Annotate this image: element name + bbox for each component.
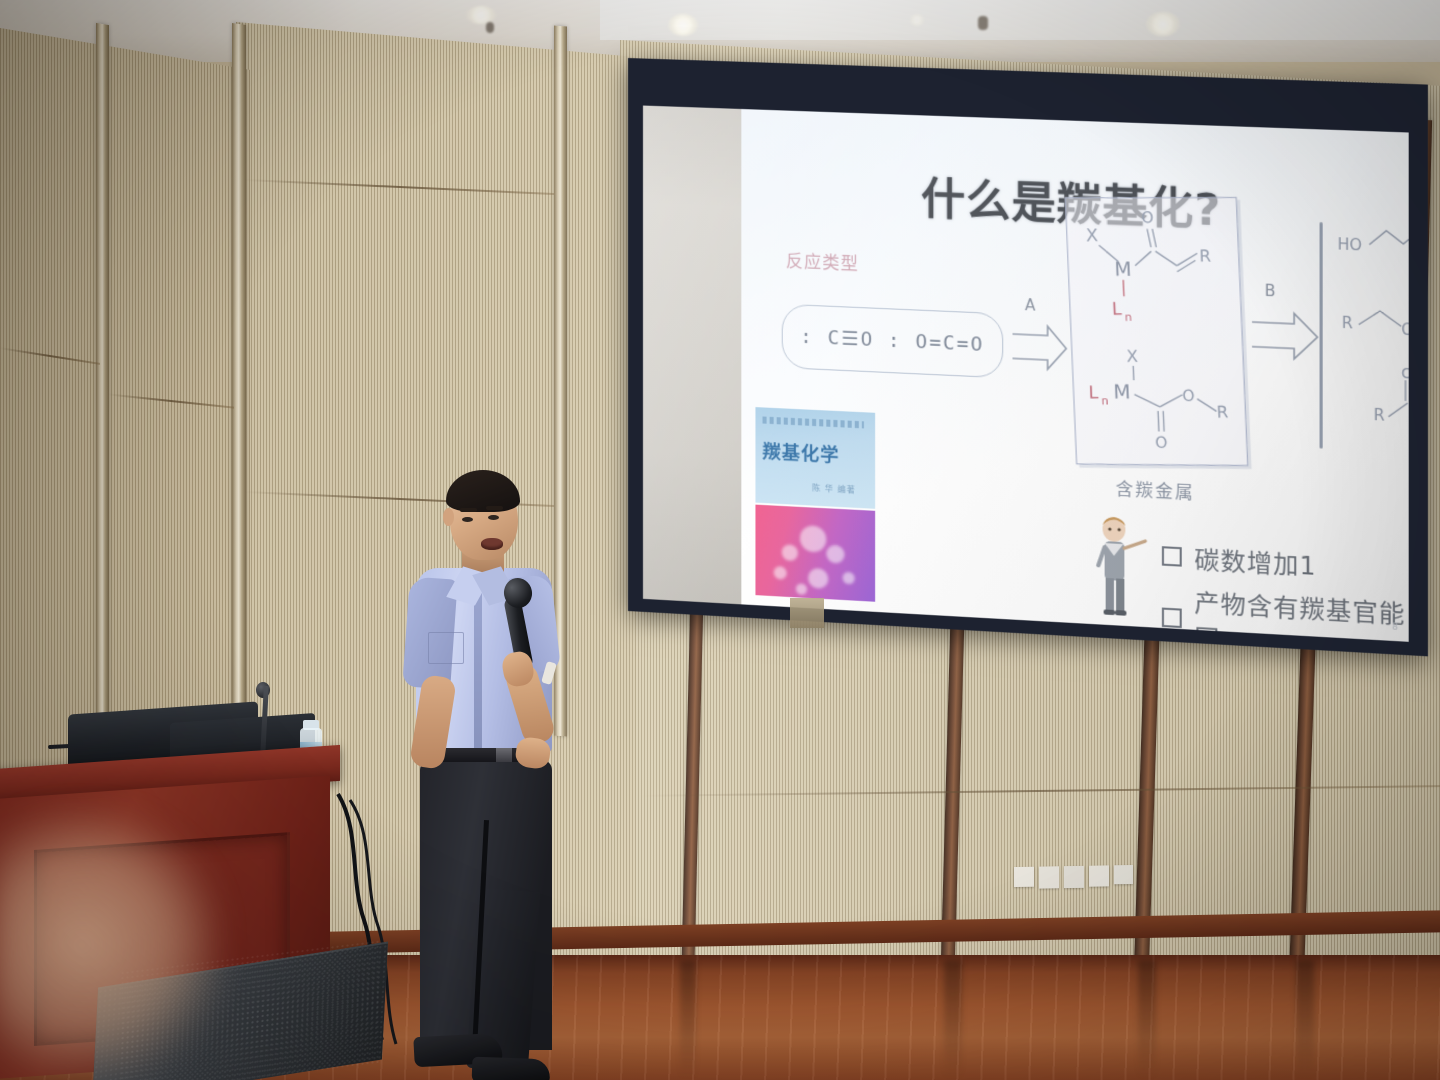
ceiling-right-section [600, 0, 1440, 40]
sprinkler-head [486, 22, 494, 33]
molecule-blob [826, 545, 844, 564]
molecule-blob [796, 583, 807, 595]
checkbox-icon [1162, 607, 1182, 628]
wall-switch-group[interactable] [1014, 865, 1133, 889]
svg-text:O: O [1155, 433, 1168, 452]
carbonyl-metal-caption: 含羰金属 [1070, 472, 1240, 506]
presenter-eyebrow [486, 506, 503, 510]
presentation-slide: 什么是羰基化? 反应类型 : C☰O : O=C=O A X M [741, 109, 1408, 642]
molecule-blob [800, 525, 826, 553]
sprinkler-head [978, 16, 988, 30]
svg-text:M: M [1113, 381, 1131, 404]
bullet-text: 产物含有羰基官能团 [1194, 583, 1408, 642]
wall-divider-strip [232, 23, 246, 765]
svg-text:O: O [1182, 387, 1195, 406]
book-author: 陈 华 编著 [812, 482, 856, 495]
presenter-mouth [481, 538, 503, 550]
lecture-hall-photo: 什么是羰基化? 反应类型 : C☰O : O=C=O A X M [0, 0, 1440, 1080]
arrow-a-label: A [1025, 296, 1036, 315]
wall-divider-strip [96, 23, 109, 745]
presenter-eye [462, 517, 473, 522]
wall-outlet[interactable] [1114, 865, 1133, 884]
wall-outlet[interactable] [1089, 865, 1109, 886]
wall-outlet[interactable] [1064, 866, 1084, 888]
book-series-line [763, 416, 864, 428]
ceiling-downlight [668, 14, 698, 36]
presenter-shoe-right [472, 1057, 551, 1080]
presenter-ear [443, 508, 454, 526]
presenter-eyebrow [460, 508, 477, 512]
svg-text:L: L [1088, 383, 1099, 403]
carbonyl-metal-box: X M O R L n [1065, 197, 1248, 466]
svg-text:O: O [1141, 208, 1154, 226]
svg-text:L: L [1112, 299, 1123, 319]
svg-text:n: n [1125, 311, 1133, 324]
reactants-box: : C☰O : O=C=O [782, 304, 1004, 379]
wall-switch[interactable] [1014, 867, 1034, 887]
products-brace [1320, 222, 1323, 449]
metal-complex-structures: X M O R L n [1066, 198, 1247, 465]
foreground-blur [0, 810, 220, 1080]
cartoon-presenter-icon [1089, 514, 1151, 619]
product-structures: HO n OH R O H R [1335, 212, 1408, 467]
molecule-blob [843, 572, 855, 585]
presenter [398, 470, 588, 1080]
wall-switch[interactable] [1039, 866, 1059, 888]
book-cover-molecular-art [755, 505, 875, 602]
presenter-shirt-placket [474, 588, 482, 758]
presenter-shirt-pocket [428, 632, 464, 664]
presenter-eye [488, 515, 499, 520]
slide-page-number: 8 [1392, 622, 1398, 633]
svg-text:n: n [1408, 213, 1409, 227]
book-title: 羰基化学 [763, 438, 840, 468]
svg-text:HO: HO [1338, 235, 1362, 255]
bullet-item: 碳数增加1 [1162, 538, 1409, 587]
svg-text:R: R [1342, 314, 1353, 333]
svg-text:M: M [1114, 258, 1132, 281]
projection-screen: 什么是羰基化? 反应类型 : C☰O : O=C=O A X M [628, 58, 1428, 656]
floor-reflection [944, 960, 962, 1078]
screen-unlit-area [643, 106, 743, 605]
arrow-b-label: B [1265, 281, 1276, 300]
molecule-blob [808, 568, 828, 589]
molecule-blob [774, 566, 787, 580]
svg-text:n: n [1101, 394, 1109, 407]
bullet-text: 碳数增加1 [1194, 540, 1316, 582]
svg-text:OH: OH [1401, 320, 1408, 340]
reaction-type-label: 反应类型 [786, 246, 859, 274]
checkbox-icon [1162, 546, 1182, 566]
svg-text:O: O [1401, 366, 1408, 383]
presenter-hair [446, 470, 520, 512]
bullet-item: 产物含有羰基官能团 [1162, 581, 1409, 642]
screen-bottom-weight [790, 598, 824, 628]
slide-bullets: 碳数增加1 产物含有羰基官能团 [1162, 538, 1409, 642]
ceiling-downlight [910, 14, 924, 26]
floor-reflection [1138, 960, 1156, 1078]
arrow-b-icon [1250, 303, 1324, 368]
molecule-blob [782, 544, 798, 561]
ceiling-downlight [1146, 12, 1180, 36]
arrow-a-icon [1010, 318, 1070, 380]
screen-surface: 什么是羰基化? 反应类型 : C☰O : O=C=O A X M [643, 106, 1409, 642]
floor-reflection [1296, 960, 1314, 1078]
floor-reflection [680, 960, 696, 1078]
book-cover-carbonyl-chemistry: 羰基化学 陈 华 编著 [755, 407, 875, 509]
svg-text:R: R [1374, 406, 1385, 425]
svg-text:R: R [1199, 246, 1211, 265]
svg-text:R: R [1216, 402, 1228, 422]
presenter-belt-buckle [496, 748, 512, 762]
svg-text:X: X [1086, 226, 1099, 246]
svg-text:X: X [1126, 346, 1138, 365]
